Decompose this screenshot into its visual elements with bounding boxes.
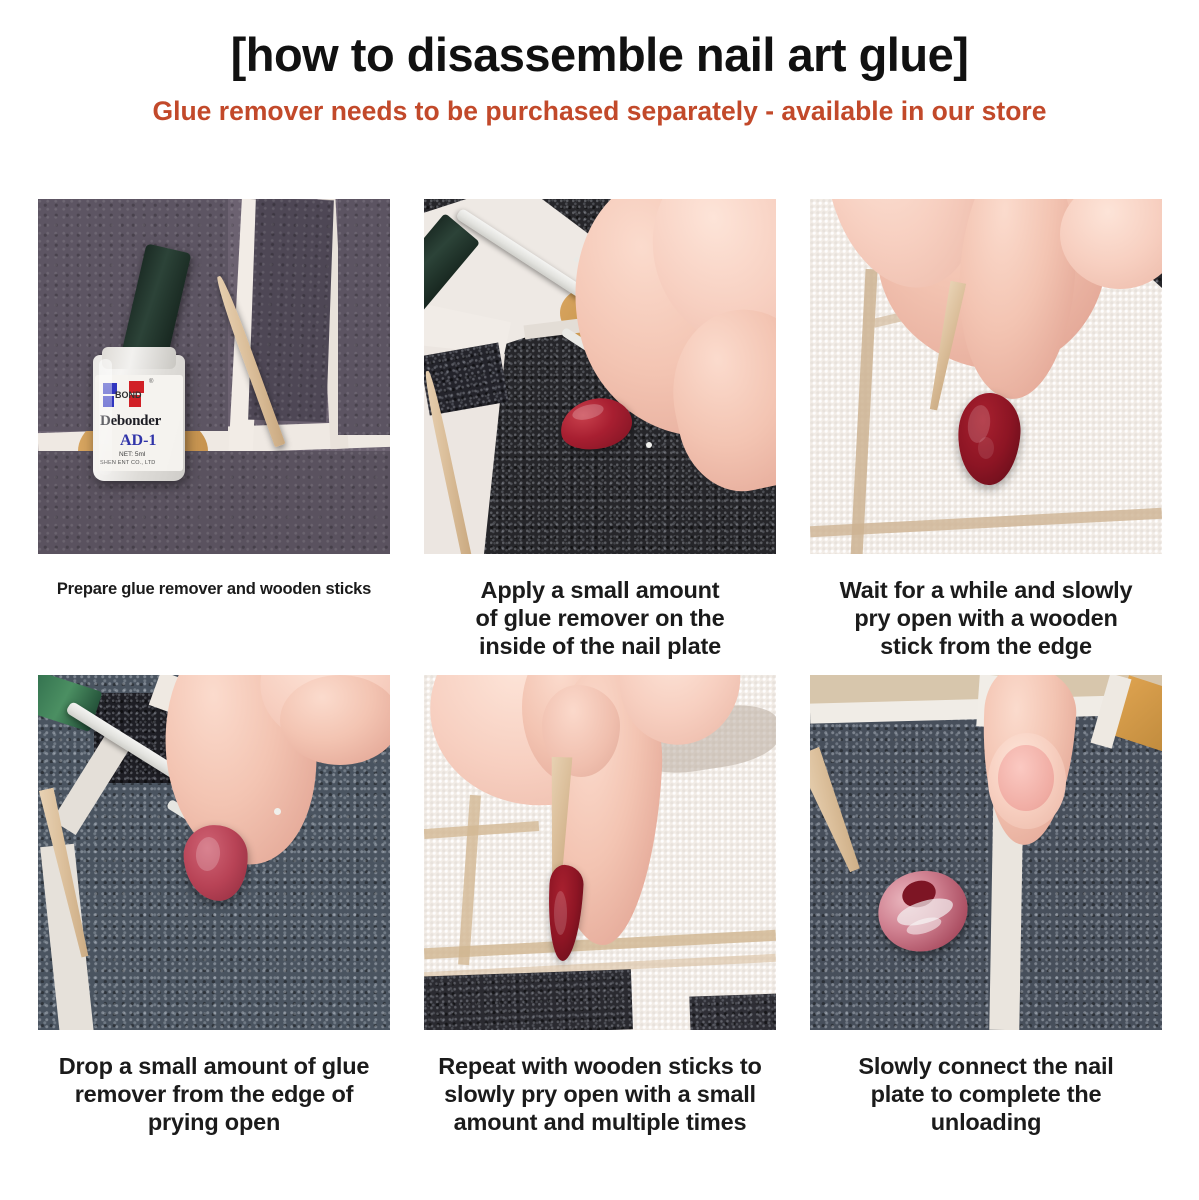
step-card-5: Repeat with wooden sticks to slowly pry …: [424, 675, 776, 1137]
registered-mark-icon: ®: [149, 379, 153, 385]
step-caption-1: Prepare glue remover and wooden sticks: [34, 554, 394, 600]
steps-row-2: Drop a small amount of glue remover from…: [38, 675, 1162, 1137]
caption-line: Apply a small amount: [420, 576, 780, 604]
step-photo-3: [810, 199, 1162, 554]
bottle-model: AD-1: [120, 432, 156, 450]
step-caption-6: Slowly connect the nail plate to complet…: [806, 1030, 1166, 1137]
bottle-brand-text: BOND: [115, 390, 142, 400]
bottle-net-volume: NET: 5ml: [119, 451, 145, 458]
caption-line: inside of the nail plate: [420, 632, 780, 660]
step-photo-6: [810, 675, 1162, 1030]
page-title: [how to disassemble nail art glue]: [0, 30, 1199, 79]
step-photo-2: [424, 199, 776, 554]
page-header: [how to disassemble nail art glue] Glue …: [0, 0, 1199, 126]
step-caption-5: Repeat with wooden sticks to slowly pry …: [420, 1030, 780, 1137]
step-caption-4: Drop a small amount of glue remover from…: [34, 1030, 394, 1137]
caption-line: remover from the edge of: [34, 1080, 394, 1108]
steps-grid: BOND ® Debonder AD-1 NET: 5ml SHEN ENT C…: [38, 199, 1162, 1136]
step-caption-3: Wait for a while and slowly pry open wit…: [806, 554, 1166, 661]
caption-line: plate to complete the: [806, 1080, 1166, 1108]
page-subtitle: Glue remover needs to be purchased separ…: [0, 79, 1199, 126]
step-card-6: Slowly connect the nail plate to complet…: [810, 675, 1162, 1137]
step-card-3: Wait for a while and slowly pry open wit…: [810, 199, 1162, 661]
step-photo-5: [424, 675, 776, 1030]
caption-line: unloading: [806, 1108, 1166, 1136]
step-card-1: BOND ® Debonder AD-1 NET: 5ml SHEN ENT C…: [38, 199, 390, 661]
steps-row-1: BOND ® Debonder AD-1 NET: 5ml SHEN ENT C…: [38, 199, 1162, 661]
step-card-2: Apply a small amount of glue remover on …: [424, 199, 776, 661]
caption-line: of glue remover on the: [420, 604, 780, 632]
caption-line: Drop a small amount of glue: [34, 1052, 394, 1080]
caption-line: stick from the edge: [806, 632, 1166, 660]
step-photo-1: BOND ® Debonder AD-1 NET: 5ml SHEN ENT C…: [38, 199, 390, 554]
step-photo-4: [38, 675, 390, 1030]
caption-line: Slowly connect the nail: [806, 1052, 1166, 1080]
caption-line: prying open: [34, 1108, 394, 1136]
step-caption-2: Apply a small amount of glue remover on …: [420, 554, 780, 661]
caption-line: pry open with a wooden: [806, 604, 1166, 632]
caption-line: amount and multiple times: [420, 1108, 780, 1136]
caption-line: Wait for a while and slowly: [806, 576, 1166, 604]
caption-line: slowly pry open with a small: [420, 1080, 780, 1108]
step-card-4: Drop a small amount of glue remover from…: [38, 675, 390, 1137]
caption-line: Repeat with wooden sticks to: [420, 1052, 780, 1080]
